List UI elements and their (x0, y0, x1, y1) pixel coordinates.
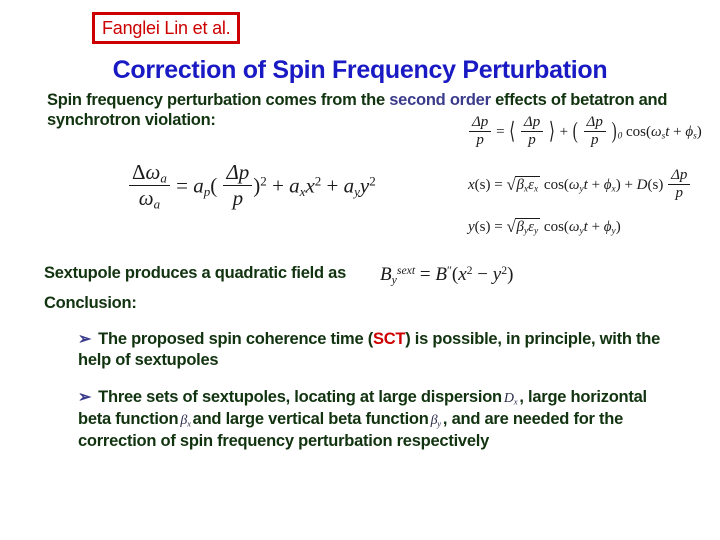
beta-subscript: y (437, 418, 441, 428)
time-variable: t (584, 219, 588, 235)
inline-math-beta-y: βy (429, 413, 443, 428)
cos-function: cos( (544, 177, 569, 193)
dispersion-subscript: x (514, 396, 518, 406)
omega-subscript: a (160, 171, 167, 186)
equation-horizontal-orbit: x(s) = βxεx cos(ωyt + ϕx) + D(s) Δp p (468, 168, 691, 203)
intro-text-part1: Spin frequency perturbation comes from t… (47, 91, 389, 109)
frac-numerator: Δp (668, 167, 690, 185)
bullet-2-text-c: and large vertical beta function (193, 410, 429, 428)
author-banner: Fanglei Lin et al. (92, 12, 240, 44)
momentum-compaction-coefficient: a (193, 173, 204, 197)
bullet-1-body: The proposed spin coherence time (SCT) i… (78, 330, 660, 369)
plus-sign: + (592, 177, 600, 193)
frac-denominator: p (521, 132, 543, 149)
plus-sign: + (560, 124, 568, 140)
bullet-arrow-icon: ➢ (78, 389, 91, 406)
frac-denominator: p (469, 132, 491, 149)
exponent: 2 (369, 174, 376, 189)
frac-denominator: p (584, 132, 606, 149)
cos-function: cos( (544, 219, 569, 235)
omega-subscript: a (154, 197, 161, 212)
omega-symbol: ω (146, 160, 161, 184)
plus-sign: + (673, 124, 681, 140)
omega-symbol: ω (569, 219, 580, 235)
page-title: Correction of Spin Frequency Perturbatio… (0, 56, 720, 85)
field-symbol: B (380, 264, 392, 285)
phi-symbol: ϕ (604, 219, 612, 235)
presentation-slide: Fanglei Lin et al. Correction of Spin Fr… (0, 0, 720, 540)
frac-denominator: p (223, 186, 252, 211)
sextupole-statement: Sextupole produces a quadratic field as … (44, 262, 513, 284)
epsilon-subscript: y (534, 227, 538, 237)
frac-numerator: Δp (521, 114, 543, 132)
frac-numerator: Δωa (129, 160, 170, 186)
minus-sign: − (477, 264, 488, 285)
list-item: ➢The proposed spin coherence time (SCT) … (78, 329, 678, 370)
field-superscript: sext (397, 264, 415, 277)
fraction-dp-p: Δp p (223, 160, 252, 211)
angle-bracket-open: ⟨ (509, 117, 515, 146)
equals-sign: = (494, 219, 502, 235)
dispersion-symbol: D (637, 177, 648, 193)
plus-sign: + (272, 173, 284, 197)
bullet-2-body: Three sets of sextupoles, locating at la… (78, 388, 647, 450)
sqrt-beta-y-eps-y: βyεy (506, 218, 540, 236)
exponent: 2 (315, 174, 322, 189)
plus-sign: + (592, 219, 600, 235)
time-variable: t (584, 177, 588, 193)
bullet-2-text-a: Three sets of sextupoles, locating at la… (98, 388, 502, 406)
fraction-dp-p: Δp p (668, 167, 690, 202)
omega-symbol: ω (651, 124, 662, 140)
intro-highlight: second order (389, 91, 491, 109)
frac-denominator: ωa (129, 186, 170, 211)
fraction-dp-p-amp: Δp p (584, 114, 606, 149)
sextupole-label: Sextupole produces a quadratic field as (44, 263, 346, 283)
equals-sign: = (496, 124, 504, 140)
author-banner-text: Fanglei Lin et al. (102, 19, 230, 37)
equals-sign: = (176, 173, 188, 197)
paren-close: ) (616, 177, 621, 193)
beta-symbol: β (516, 177, 523, 193)
y-variable: y (360, 173, 369, 197)
dispersion-symbol: D (504, 391, 514, 406)
delta-symbol: Δ (132, 160, 146, 184)
paren-open: ( (573, 119, 578, 145)
argument-s: (s) (475, 219, 491, 235)
amplitude-subscript: 0 (618, 132, 623, 142)
time-variable: t (665, 124, 669, 140)
exponent: 2 (260, 174, 267, 189)
plus-sign: + (327, 173, 339, 197)
bullet-arrow-icon: ➢ (78, 331, 91, 348)
y-variable: y (493, 264, 501, 285)
inline-math-beta-x: βx (178, 413, 192, 428)
frac-denominator: p (668, 185, 690, 202)
frac-numerator: Δp (223, 160, 252, 186)
coefficient-ax: a (289, 173, 300, 197)
paren-open: ( (210, 173, 217, 197)
list-item: ➢Three sets of sextupoles, locating at l… (78, 387, 678, 451)
plus-sign: + (624, 177, 632, 193)
x-variable: x (468, 177, 475, 193)
exponent: 2 (467, 264, 473, 277)
paren-close: ) (616, 219, 621, 235)
equation-spin-tune-shift: Δωa ωa = ap( Δp p )2 + axx2 + ayy2 (128, 162, 376, 213)
equals-sign: = (420, 264, 431, 285)
beta-symbol: β (516, 219, 523, 235)
phi-symbol: ϕ (685, 124, 693, 140)
phi-symbol: ϕ (604, 177, 612, 193)
y-variable: y (468, 219, 475, 235)
inline-math-dispersion: Dx (502, 391, 519, 406)
bullet-1-highlight: SCT (373, 330, 405, 348)
coefficient-ay: a (344, 173, 355, 197)
frac-numerator: Δp (584, 114, 606, 132)
omega-symbol: ω (569, 177, 580, 193)
fraction-dp-p: Δp p (469, 114, 491, 149)
equals-sign: = (494, 177, 502, 193)
epsilon-subscript: x (534, 185, 538, 195)
equation-vertical-orbit: y(s) = βyεy cos(ωyt + ϕy) (468, 218, 621, 236)
omega-symbol: ω (139, 186, 154, 210)
bullet-1-text-a: The proposed spin coherence time ( (98, 330, 373, 348)
equation-momentum-spread: Δp p = ⟨ Δp p ⟩ + ( Δp p )0 cos(ωst + ϕs… (468, 115, 702, 150)
sqrt-beta-x-eps-x: βxεx (506, 176, 540, 194)
fraction-dp-p-avg: Δp p (521, 114, 543, 149)
fraction-delta-omega-omega: Δωa ωa (129, 160, 170, 211)
paren-close: ) (612, 119, 617, 145)
field-gradient-symbol: B (435, 264, 447, 285)
paren-close: ) (697, 124, 702, 140)
equation-sextupole-field: Bysext = B″(x2 − y2) (380, 264, 513, 286)
beta-subscript: x (187, 418, 191, 428)
frac-numerator: Δp (469, 114, 491, 132)
x-variable: x (458, 264, 466, 285)
argument-s: (s) (475, 177, 491, 193)
angle-bracket-close: ⟩ (549, 117, 555, 146)
paren-close: ) (507, 264, 513, 285)
x-variable: x (305, 173, 314, 197)
conclusion-label: Conclusion: (44, 293, 137, 313)
cos-function: cos( (626, 124, 651, 140)
argument-s: (s) (648, 177, 664, 193)
